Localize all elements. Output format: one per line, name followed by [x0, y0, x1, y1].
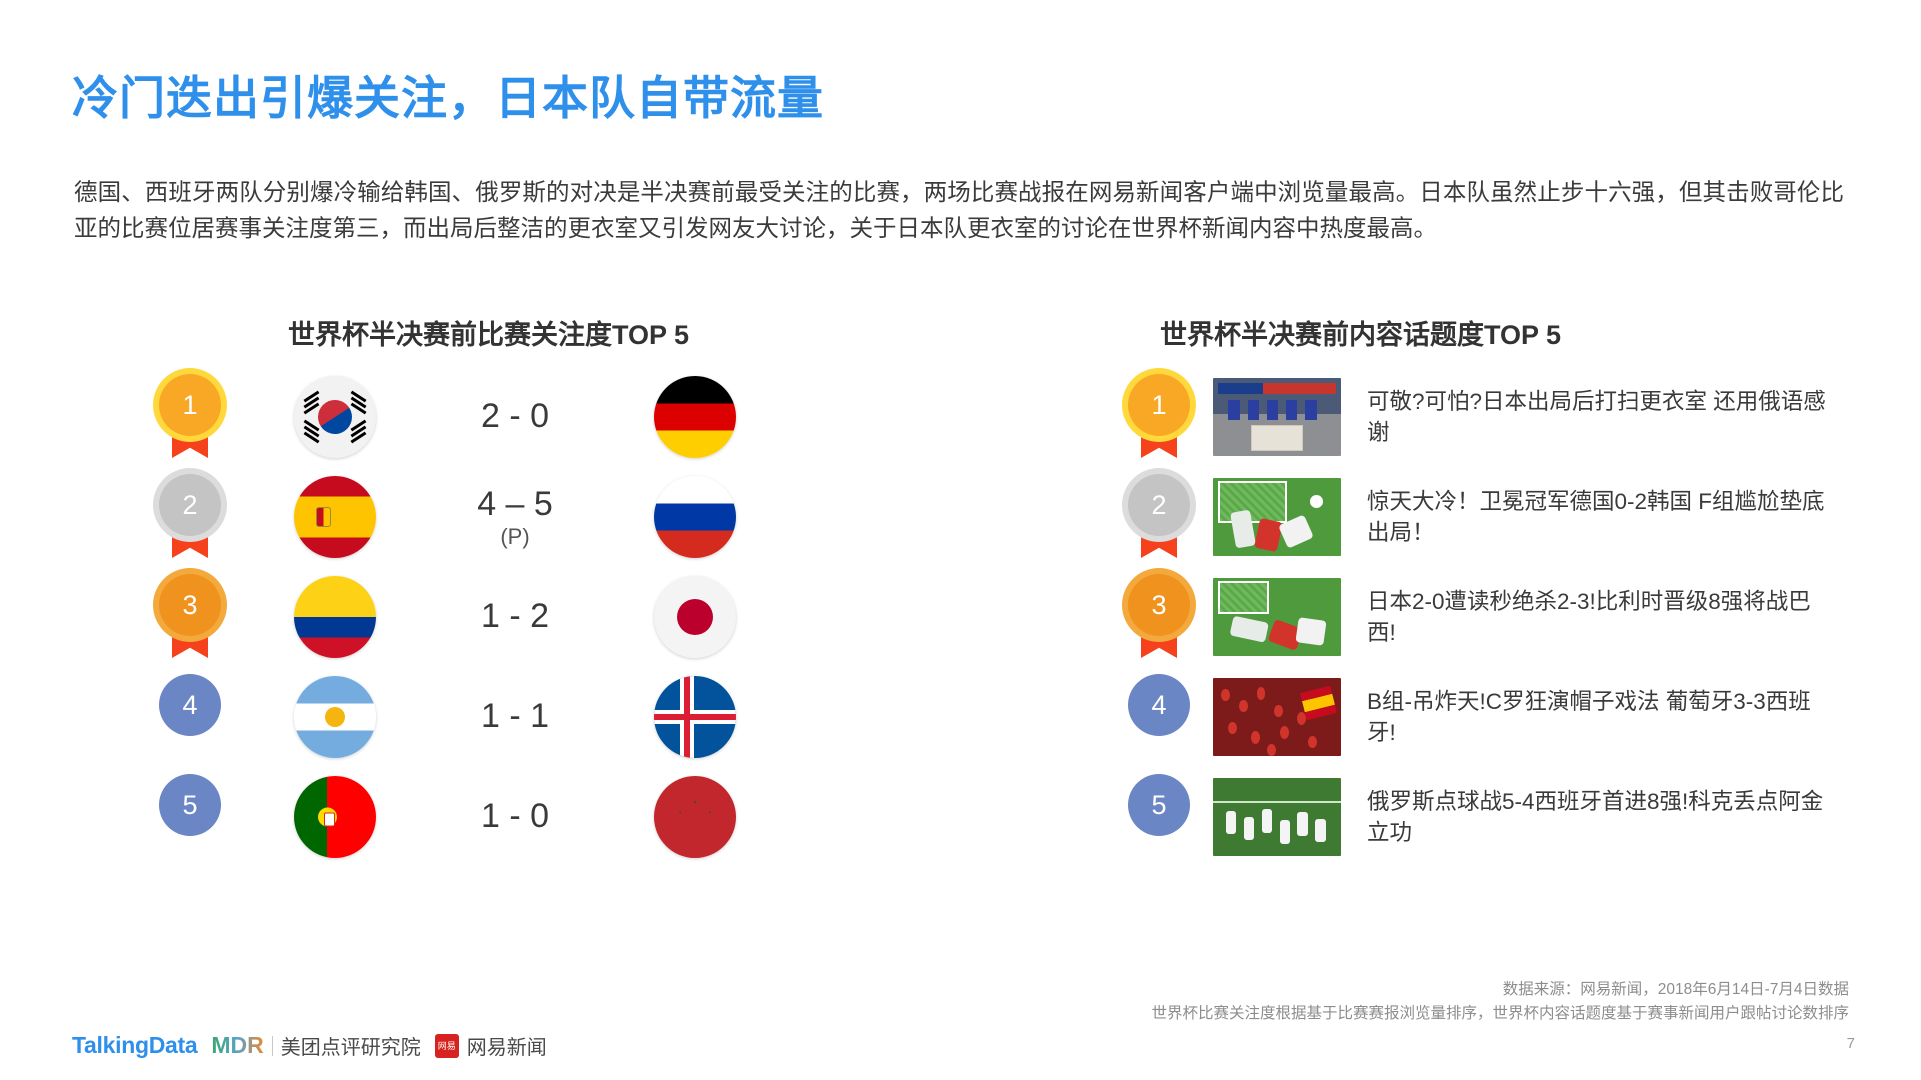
rank-cell: 1	[130, 374, 250, 460]
rank-cell: 5	[130, 774, 250, 860]
rank-badge-5: 5	[1128, 774, 1190, 860]
score-value: 1 - 1	[481, 697, 549, 735]
logo-talkingdata: TalkingData	[72, 1032, 197, 1059]
home-flag-cell	[250, 776, 420, 858]
table-row: 2 4 – 5 (P)	[130, 468, 870, 566]
logo-netease-label: 网易新闻	[467, 1031, 547, 1060]
home-flag-cell	[250, 576, 420, 658]
thumbnail-locker-room	[1213, 378, 1341, 456]
medal-icon-silver: 2	[1128, 474, 1190, 560]
list-item: 3 日本2-0遭读秒绝杀2-3!比利时晋级8强将战巴西!	[1105, 568, 1865, 666]
match-score: 4 – 5 (P)	[420, 485, 610, 549]
medal-rank-label: 2	[1128, 474, 1190, 536]
rank-badge-5: 5	[159, 774, 221, 860]
thumbnail-japan-belgium	[1213, 578, 1341, 656]
left-section-heading: 世界杯半决赛前比赛关注度TOP 5	[288, 313, 689, 352]
medal-rank-label: 3	[1128, 574, 1190, 636]
medal-rank-label: 4	[159, 674, 221, 736]
home-flag-cell	[250, 376, 420, 458]
netease-mark-icon: 网易	[435, 1034, 459, 1058]
rank-cell: 2	[1105, 474, 1213, 560]
list-item: 4 B组-吊炸天!C罗狂演帽子戏法 葡萄牙3-3西班牙!	[1105, 668, 1865, 766]
flag-japan-icon	[654, 576, 736, 658]
news-headline[interactable]: 日本2-0遭读秒绝杀2-3!比利时晋级8强将战巴西!	[1367, 586, 1837, 648]
logo-netease: 网易 网易新闻	[435, 1031, 547, 1060]
medal-icon-bronze: 3	[1128, 574, 1190, 660]
source-line-2: 世界杯比赛关注度根据基于比赛赛报浏览量排序，世界杯内容话题度基于赛事新闻用户跟帖…	[1151, 1002, 1849, 1026]
logo-mdr-label: 美团点评研究院	[281, 1031, 421, 1060]
score-value: 1 - 2	[481, 597, 549, 635]
flag-colombia-icon	[294, 576, 376, 658]
rank-badge-4: 4	[159, 674, 221, 760]
penalty-note: (P)	[420, 524, 610, 549]
source-line-1: 数据来源：网易新闻，2018年6月14日-7月4日数据	[1151, 978, 1849, 1002]
list-item: 1 可敬?可怕?日本出局后打扫更衣室 还用俄语感谢	[1105, 368, 1865, 466]
rank-badge-4: 4	[1128, 674, 1190, 760]
medal-rank-label: 1	[159, 374, 221, 436]
rank-cell: 4	[1105, 674, 1213, 760]
match-score: 1 - 0	[420, 797, 610, 836]
thumbnail-spain-fans	[1213, 678, 1341, 756]
news-headline[interactable]: 可敬?可怕?日本出局后打扫更衣室 还用俄语感谢	[1367, 386, 1837, 448]
flag-germany-icon	[654, 376, 736, 458]
rank-cell: 1	[1105, 374, 1213, 460]
medal-icon-gold: 1	[159, 374, 221, 460]
flag-iceland-icon	[654, 676, 736, 758]
flag-morocco-icon	[654, 776, 736, 858]
page-title: 冷门迭出引爆关注，日本队自带流量	[72, 62, 824, 128]
medal-rank-label: 4	[1128, 674, 1190, 736]
rank-cell: 3	[130, 574, 250, 660]
list-item: 5 俄罗斯点球战5-4西班牙首进8强!科克丢点阿金立功	[1105, 768, 1865, 866]
medal-icon-gold: 1	[1128, 374, 1190, 460]
news-topic-list: 1 可敬?可怕?日本出局后打扫更衣室 还用俄语感谢 2	[1105, 368, 1865, 868]
away-flag-cell	[610, 376, 780, 458]
source-note: 数据来源：网易新闻，2018年6月14日-7月4日数据 世界杯比赛关注度根据基于…	[1151, 978, 1849, 1026]
table-row: 1 2 - 0	[130, 368, 870, 466]
medal-rank-label: 3	[159, 574, 221, 636]
medal-rank-label: 5	[159, 774, 221, 836]
score-value: 4 – 5	[477, 485, 553, 523]
list-item: 2 惊天大冷！卫冕冠军德国0-2韩国 F组尴尬垫底出局！	[1105, 468, 1865, 566]
away-flag-cell	[610, 476, 780, 558]
rank-cell: 5	[1105, 774, 1213, 860]
logo-divider	[272, 1036, 273, 1056]
match-score: 1 - 1	[420, 697, 610, 736]
news-headline[interactable]: B组-吊炸天!C罗狂演帽子戏法 葡萄牙3-3西班牙!	[1367, 686, 1837, 748]
logo-mdr: MDR 美团点评研究院	[211, 1031, 420, 1060]
news-headline[interactable]: 俄罗斯点球战5-4西班牙首进8强!科克丢点阿金立功	[1367, 786, 1837, 848]
away-flag-cell	[610, 576, 780, 658]
news-headline[interactable]: 惊天大冷！卫冕冠军德国0-2韩国 F组尴尬垫底出局！	[1367, 486, 1837, 548]
medal-rank-label: 2	[159, 474, 221, 536]
rank-cell: 2	[130, 474, 250, 560]
thumbnail-russia-celebration	[1213, 778, 1341, 856]
table-row: 4 1 - 1	[130, 668, 870, 766]
slide-root: 冷门迭出引爆关注，日本队自带流量 德国、西班牙两队分别爆冷输给韩国、俄罗斯的对决…	[0, 0, 1921, 1080]
home-flag-cell	[250, 676, 420, 758]
thumbnail-germany-korea	[1213, 478, 1341, 556]
score-value: 1 - 0	[481, 797, 549, 835]
away-flag-cell	[610, 676, 780, 758]
flag-russia-icon	[654, 476, 736, 558]
match-attention-list: 1 2 - 0 2	[130, 368, 870, 868]
partner-logos: TalkingData MDR 美团点评研究院 网易 网易新闻	[72, 1031, 547, 1060]
rank-cell: 4	[130, 674, 250, 760]
away-flag-cell	[610, 776, 780, 858]
intro-paragraph: 德国、西班牙两队分别爆冷输给韩国、俄罗斯的对决是半决赛前最受关注的比赛，两场比赛…	[74, 175, 1844, 246]
flag-portugal-icon	[294, 776, 376, 858]
table-row: 3 1 - 2	[130, 568, 870, 666]
page-number: 7	[1847, 1035, 1855, 1052]
medal-rank-label: 1	[1128, 374, 1190, 436]
flag-argentina-icon	[294, 676, 376, 758]
medal-rank-label: 5	[1128, 774, 1190, 836]
home-flag-cell	[250, 476, 420, 558]
medal-icon-bronze: 3	[159, 574, 221, 660]
match-score: 1 - 2	[420, 597, 610, 636]
match-score: 2 - 0	[420, 397, 610, 436]
flag-spain-icon	[294, 476, 376, 558]
right-section-heading: 世界杯半决赛前内容话题度TOP 5	[1160, 313, 1561, 352]
logo-mdr-mark: MDR	[211, 1032, 263, 1059]
medal-icon-silver: 2	[159, 474, 221, 560]
rank-cell: 3	[1105, 574, 1213, 660]
flag-south-korea-icon	[294, 376, 376, 458]
score-value: 2 - 0	[481, 397, 549, 435]
table-row: 5 1 - 0	[130, 768, 870, 866]
